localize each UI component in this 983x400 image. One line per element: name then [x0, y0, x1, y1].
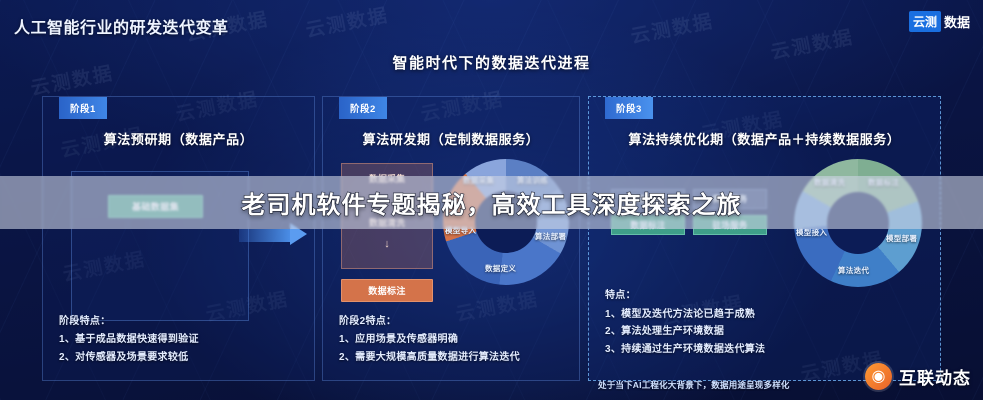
stage3-feature-item: 1、模型及迭代方法论已趋于成熟: [605, 306, 930, 324]
stage-panel-1: 阶段1 算法预研期（数据产品） 基础数据集 阶段特点： 1、基于成品数据快速得到…: [42, 96, 315, 381]
stage1-feature-item: 2、对传感器及场景要求较低: [59, 349, 304, 367]
weibo-account-name: 互联动态: [899, 364, 971, 389]
stage2-features-head: 阶段2特点：: [339, 313, 569, 331]
overlay-caption-text: 老司机软件专题揭秘，高效工具深度探索之旅: [242, 185, 742, 220]
stage1-features: 阶段特点： 1、基于成品数据快速得到验证 2、对传感器及场景要求较低: [59, 313, 304, 367]
stage2-feature-item: 2、需要大规模高质量数据进行算法迭代: [339, 349, 569, 367]
chip-data-annotation: 数据标注: [341, 279, 433, 302]
stage3-features: 特点： 1、模型及迭代方法论已趋于成熟 2、算法处理生产环境数据 3、持续通过生…: [605, 287, 930, 358]
stage-badge-3: 阶段3: [605, 97, 653, 119]
page-title: 人工智能行业的研发迭代变革: [14, 14, 229, 38]
watermark: 云测数据: [628, 6, 716, 49]
stage-panel-3: 阶段3 算法持续优化期（数据产品＋持续数据服务） 数据管理 离岸服务 数据标注 …: [588, 96, 941, 381]
watermark: 云测数据: [303, 0, 391, 43]
stage1-feature-item: 1、基于成品数据快速得到验证: [59, 331, 304, 349]
stage1-features-head: 阶段特点：: [59, 313, 304, 331]
poster-canvas: 云测数据 云测数据 云测数据 云测数据 云测数据 云测数据 云测数据 云测数据 …: [0, 0, 983, 400]
ring-label: 数据定义: [485, 263, 516, 274]
weibo-badge[interactable]: ◉ 互联动态: [865, 363, 971, 390]
stage3-feature-item: 2、算法处理生产环境数据: [605, 323, 930, 341]
stage2-features: 阶段2特点： 1、应用场景及传感器明确 2、需要大规模高质量数据进行算法迭代: [339, 313, 569, 367]
footer-note: 处于当下AI工程化大背景下，数据用途呈现多样化: [598, 379, 898, 391]
ring-label: 算法迭代: [838, 265, 869, 276]
brand-logo: 云测 数据: [909, 11, 970, 32]
stage-title-2: 算法研发期（定制数据服务）: [323, 129, 579, 148]
overlay-caption-band: 老司机软件专题揭秘，高效工具深度探索之旅: [0, 176, 983, 229]
brand-word: 数据: [944, 12, 970, 31]
arrow-down-icon: ↓: [384, 238, 390, 250]
stage-title-3: 算法持续优化期（数据产品＋持续数据服务）: [589, 129, 940, 148]
stage-badge-1: 阶段1: [59, 97, 107, 119]
stage-panel-2: 阶段2 算法研发期（定制数据服务） 数据采集 数据清洗 ↓ 数据标注 数据采集 …: [322, 96, 580, 381]
weibo-icon: ◉: [865, 363, 892, 390]
stage3-feature-item: 3、持续通过生产环境数据迭代算法: [605, 341, 930, 359]
ring-label: 模型部署: [886, 233, 917, 244]
stage-title-1: 算法预研期（数据产品）: [43, 129, 314, 148]
stage2-feature-item: 1、应用场景及传感器明确: [339, 331, 569, 349]
connector-bar-1: [239, 229, 291, 242]
main-heading: 智能时代下的数据迭代进程: [0, 52, 983, 73]
stage3-features-head: 特点：: [605, 287, 930, 305]
stage-badge-2: 阶段2: [339, 97, 387, 119]
brand-badge: 云测: [909, 11, 941, 32]
ring-label: 算法部署: [535, 231, 566, 242]
